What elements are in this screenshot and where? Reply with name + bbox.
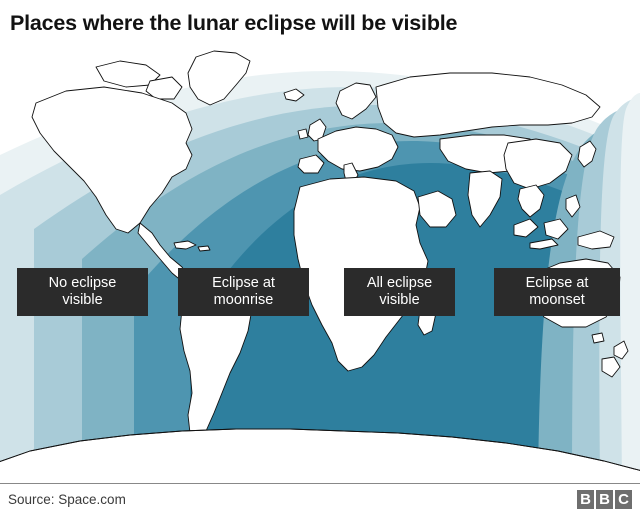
legend-eclipse-at-moonrise: Eclipse at moonrise bbox=[178, 268, 309, 316]
legend-eclipse-at-moonset: Eclipse at moonset bbox=[494, 268, 620, 316]
world-map: No eclipse visible Eclipse at moonrise A… bbox=[0, 47, 640, 484]
title-bar: Places where the lunar eclipse will be v… bbox=[0, 0, 640, 46]
legend-all-eclipse-visible: All eclipse visible bbox=[344, 268, 455, 316]
land-hispaniola bbox=[198, 246, 210, 251]
land-ireland bbox=[298, 129, 308, 139]
legend-moonset-line2: moonset bbox=[526, 292, 589, 310]
infographic-root: Places where the lunar eclipse will be v… bbox=[0, 0, 640, 516]
bbc-logo: B B C bbox=[577, 490, 632, 509]
land-tasmania bbox=[592, 333, 604, 343]
legend-all-eclipse-line1: All eclipse bbox=[367, 275, 432, 293]
bbc-logo-letter-b2: B bbox=[596, 490, 613, 509]
legend-no-eclipse-line1: No eclipse bbox=[49, 275, 117, 293]
legend-moonrise-line1: Eclipse at bbox=[212, 275, 275, 293]
legend-moonrise-line2: moonrise bbox=[212, 292, 275, 310]
source-attribution: Source: Space.com bbox=[8, 492, 126, 507]
band-east-falloff-5 bbox=[620, 93, 640, 484]
bbc-logo-letter-b1: B bbox=[577, 490, 594, 509]
legend-moonset-line1: Eclipse at bbox=[526, 275, 589, 293]
footer: Source: Space.com B B C bbox=[0, 484, 640, 516]
legend-no-eclipse-line2: visible bbox=[49, 292, 117, 310]
bbc-logo-letter-c: C bbox=[615, 490, 632, 509]
page-title: Places where the lunar eclipse will be v… bbox=[10, 11, 457, 36]
map-svg bbox=[0, 47, 640, 484]
legend-all-eclipse-line2: visible bbox=[367, 292, 432, 310]
legend-no-eclipse-visible: No eclipse visible bbox=[17, 268, 148, 316]
